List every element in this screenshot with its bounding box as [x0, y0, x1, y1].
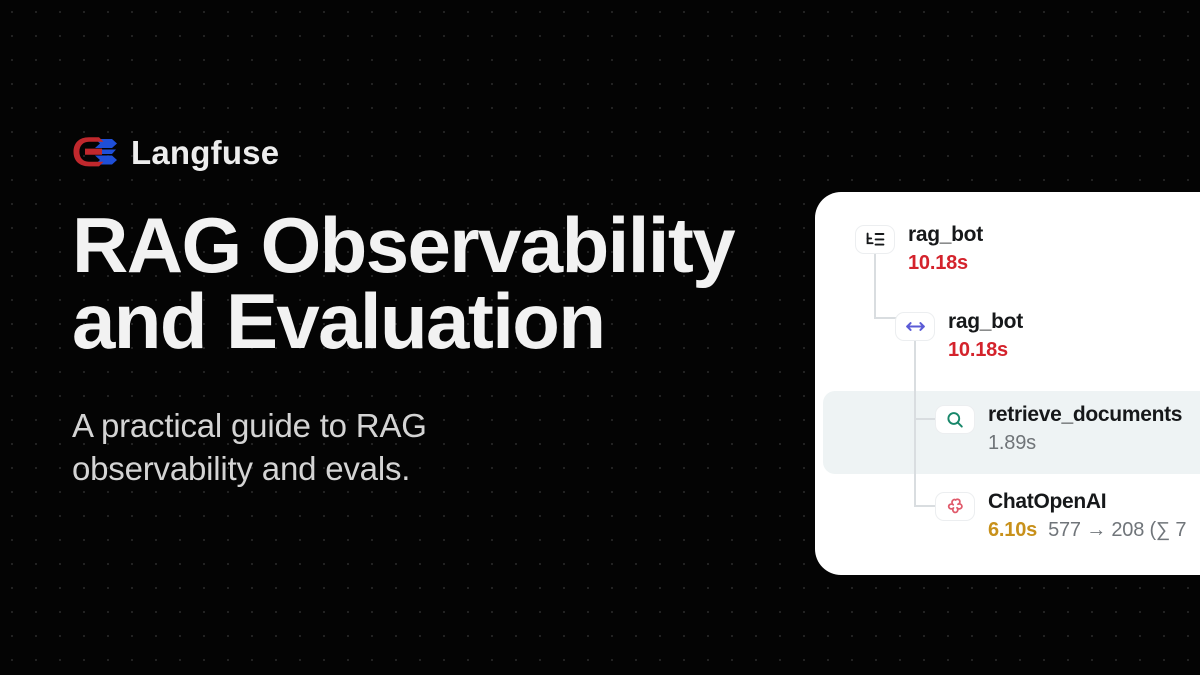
trace-row-meta: 10.18s — [908, 251, 983, 275]
trace-tree: rag_bot 10.18s rag_bot 10.18s — [815, 192, 1200, 575]
trace-row-duration: 10.18s — [908, 251, 968, 275]
trace-row-tokens: 577 → 208 (∑ 7 — [1048, 518, 1186, 542]
trace-row[interactable]: retrieve_documents 1.89s — [935, 403, 1182, 455]
connector-vertical-branch — [914, 337, 916, 506]
arrows-horizontal-icon[interactable] — [895, 312, 935, 341]
trace-row-duration: 10.18s — [948, 338, 1008, 362]
trace-row-label: rag_bot — [908, 223, 983, 248]
trace-row-label: rag_bot — [948, 310, 1023, 335]
trace-row-body: rag_bot 10.18s — [908, 223, 983, 275]
trace-row-duration: 1.89s — [988, 431, 1036, 455]
trace-row-body: rag_bot 10.18s — [948, 310, 1023, 362]
pinwheel-icon[interactable] — [935, 492, 975, 521]
trace-row-body: ChatOpenAI 6.10s 577 → 208 (∑ 7 — [988, 490, 1186, 542]
search-icon[interactable] — [935, 405, 975, 434]
trace-row[interactable]: ChatOpenAI 6.10s 577 → 208 (∑ 7 — [935, 490, 1186, 542]
connector-horizontal-1 — [874, 317, 896, 319]
list-tree-icon[interactable] — [855, 225, 895, 254]
hero-content: Langfuse RAG Observability and Evaluatio… — [72, 130, 812, 490]
trace-row-meta: 6.10s 577 → 208 (∑ 7 — [988, 518, 1186, 542]
trace-row-meta: 1.89s — [988, 431, 1182, 455]
trace-tree-card: rag_bot 10.18s rag_bot 10.18s — [815, 192, 1200, 575]
connector-horizontal-3 — [914, 505, 936, 507]
trace-row-label: retrieve_documents — [988, 403, 1182, 428]
page-subtitle: A practical guide to RAG observability a… — [72, 404, 592, 490]
langfuse-logo-icon — [72, 135, 118, 169]
trace-row-label: ChatOpenAI — [988, 490, 1186, 515]
trace-row[interactable]: rag_bot 10.18s — [895, 310, 1023, 362]
brand-name: Langfuse — [131, 136, 279, 169]
trace-row-meta: 10.18s — [948, 338, 1023, 362]
trace-row[interactable]: rag_bot 10.18s — [855, 223, 983, 275]
trace-row-body: retrieve_documents 1.89s — [988, 403, 1182, 455]
brand-row: Langfuse — [72, 130, 812, 174]
page-title: RAG Observability and Evaluation — [72, 207, 802, 360]
connector-horizontal-2 — [914, 418, 936, 420]
trace-row-duration: 6.10s — [988, 518, 1037, 542]
